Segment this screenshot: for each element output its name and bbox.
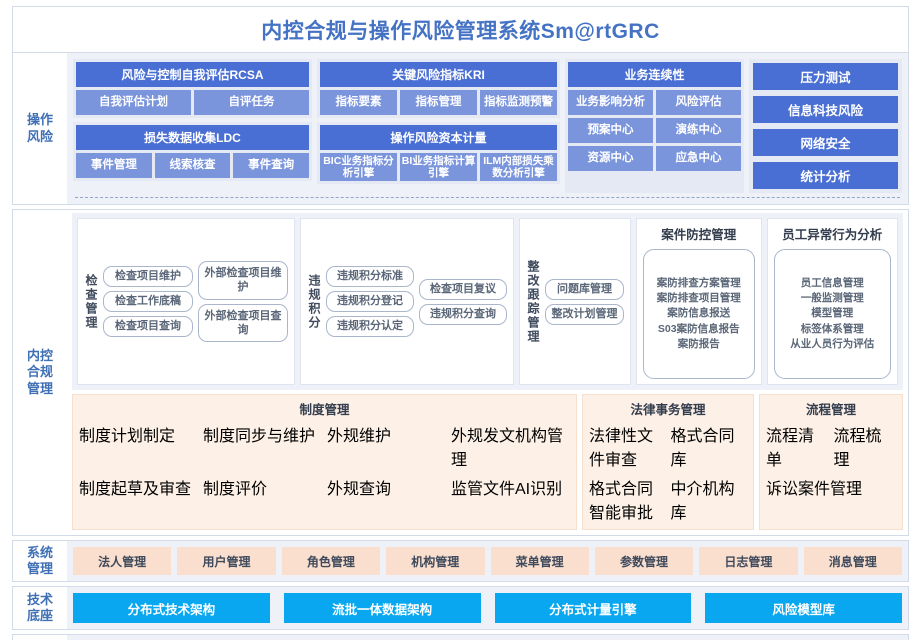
button-legal-document-review[interactable]: 法律性文件审查 bbox=[589, 422, 666, 470]
list-item[interactable]: S03案防信息报告 bbox=[648, 322, 750, 337]
button-bi-engine[interactable]: BI业务指标计算引擎 bbox=[400, 153, 477, 181]
button-external-rule-maintenance[interactable]: 外规维护 bbox=[327, 422, 446, 470]
list-item[interactable]: 案防排查项目管理 bbox=[648, 291, 750, 306]
group-kri-header[interactable]: 关键风险指标KRI bbox=[320, 62, 557, 87]
list-item[interactable]: 案防信息报送 bbox=[648, 306, 750, 321]
button-indicator-element[interactable]: 指标要素 bbox=[320, 90, 397, 115]
architecture-diagram: 内控合规与操作风险管理系统Sm@rtGRC 操作风险 风险与控制自我评估RCSA… bbox=[0, 0, 921, 640]
button-process-list[interactable]: 流程清单 bbox=[766, 422, 829, 470]
button-intermediary-org-library[interactable]: 中介机构库 bbox=[671, 475, 748, 523]
card-legal-affairs-management: 法律事务管理 法律性文件审查 格式合同库 格式合同智能审批 中介机构库 bbox=[582, 394, 754, 530]
button-regulatory-doc-ai-recognition[interactable]: 监管文件AI识别 bbox=[451, 475, 570, 499]
group-op-risk-capital-header[interactable]: 操作风险资本计量 bbox=[320, 125, 557, 150]
internal-control-body: 检查管理 检查项目维护 检查工作底稿 检查项目查询 外部检查项目维护 外部检查项… bbox=[67, 210, 908, 535]
button-distributed-tech-architecture[interactable]: 分布式技术架构 bbox=[73, 593, 270, 623]
button-org-management[interactable]: 机构管理 bbox=[386, 547, 484, 575]
list-case-prevention[interactable]: 案防排查方案管理 案防排查项目管理 案防信息报送 S03案防信息报告 案防报告 bbox=[643, 249, 755, 379]
button-self-assessment-task[interactable]: 自评任务 bbox=[194, 90, 309, 115]
band-label-operational-risk: 操作风险 bbox=[13, 53, 67, 204]
list-item[interactable]: 案防排查方案管理 bbox=[648, 276, 750, 291]
card-employee-abnormal-behavior: 员工异常行为分析 员工信息管理 一般监测管理 模型管理 标签体系管理 从业人员行… bbox=[767, 218, 899, 385]
card-case-prevention: 案件防控管理 案防排查方案管理 案防排查项目管理 案防信息报送 S03案防信息报… bbox=[636, 218, 762, 385]
group-rcsa-header[interactable]: 风险与控制自我评估RCSA bbox=[76, 62, 309, 87]
pill-violation-points-standard[interactable]: 违规积分标准 bbox=[326, 266, 414, 287]
card-label-violation-points: 违规积分 bbox=[307, 274, 321, 330]
list-item[interactable]: 员工信息管理 bbox=[779, 276, 887, 291]
button-legal-entity-management[interactable]: 法人管理 bbox=[73, 547, 171, 575]
xc-support-body: 操作系统 麒麟、统信、中科方德... 服务器 龙芯、兆芯、海思... 数据库 达… bbox=[67, 635, 908, 640]
card-label-rectification-tracking: 整改跟踪管理 bbox=[526, 260, 540, 344]
system-management-body: 法人管理 用户管理 角色管理 机构管理 菜单管理 参数管理 日志管理 消息管理 bbox=[67, 541, 908, 581]
band-internal-control: 内控合规管理 检查管理 检查项目维护 检查工作底稿 检查项目查询 外部检查项目维… bbox=[12, 209, 909, 536]
pill-external-inspection-maintenance[interactable]: 外部检查项目维护 bbox=[198, 261, 288, 300]
pill-inspection-item-review[interactable]: 检查项目复议 bbox=[419, 279, 507, 300]
button-statistical-analysis[interactable]: 统计分析 bbox=[753, 162, 898, 189]
list-item[interactable]: 模型管理 bbox=[779, 306, 887, 321]
internal-control-orange-row: 制度管理 制度计划制定 制度同步与维护 外规维护 外规发文机构管理 制度起草及审… bbox=[72, 394, 903, 530]
orisk-column-2: 关键风险指标KRI 指标要素 指标管理 指标监测预警 操作风险资本计量 BIC业… bbox=[317, 59, 560, 193]
button-policy-plan-formulation[interactable]: 制度计划制定 bbox=[79, 422, 198, 470]
button-role-management[interactable]: 角色管理 bbox=[282, 547, 380, 575]
button-drill-center[interactable]: 演练中心 bbox=[656, 118, 741, 143]
button-self-assessment-plan[interactable]: 自我评估计划 bbox=[76, 90, 191, 115]
button-message-management[interactable]: 消息管理 bbox=[804, 547, 902, 575]
pill-inspection-item-query[interactable]: 检查项目查询 bbox=[103, 316, 193, 337]
list-item[interactable]: 一般监测管理 bbox=[779, 291, 887, 306]
section-divider bbox=[75, 197, 900, 198]
card-rectification-tracking: 整改跟踪管理 问题库管理 整改计划管理 bbox=[519, 218, 631, 385]
button-risk-model-library[interactable]: 风险模型库 bbox=[705, 593, 902, 623]
button-log-management[interactable]: 日志管理 bbox=[699, 547, 797, 575]
card-title-legal-affairs-management: 法律事务管理 bbox=[589, 399, 747, 418]
button-it-risk[interactable]: 信息科技风险 bbox=[753, 96, 898, 123]
page-title: 内控合规与操作风险管理系统Sm@rtGRC bbox=[261, 15, 660, 45]
pill-inspection-item-maintenance[interactable]: 检查项目维护 bbox=[103, 266, 193, 287]
button-risk-assessment[interactable]: 风险评估 bbox=[656, 90, 741, 115]
card-inspection-management: 检查管理 检查项目维护 检查工作底稿 检查项目查询 外部检查项目维护 外部检查项… bbox=[77, 218, 295, 385]
card-title-employee-abnormal-behavior: 员工异常行为分析 bbox=[774, 224, 892, 243]
button-stream-batch-data-architecture[interactable]: 流批一体数据架构 bbox=[284, 593, 481, 623]
button-event-management[interactable]: 事件管理 bbox=[76, 153, 152, 178]
list-item[interactable]: 从业人员行为评估 bbox=[779, 337, 887, 352]
internal-control-cards: 检查管理 检查项目维护 检查工作底稿 检查项目查询 外部检查项目维护 外部检查项… bbox=[72, 213, 903, 390]
button-indicator-management[interactable]: 指标管理 bbox=[400, 90, 477, 115]
card-title-process-management: 流程管理 bbox=[766, 399, 896, 418]
button-menu-management[interactable]: 菜单管理 bbox=[491, 547, 589, 575]
pill-issue-library-management[interactable]: 问题库管理 bbox=[545, 279, 624, 300]
band-xc-support: 信创支持 操作系统 麒麟、统信、中科方德... 服务器 龙芯、兆芯、海思... … bbox=[12, 634, 909, 640]
pill-violation-points-registration[interactable]: 违规积分登记 bbox=[326, 291, 414, 312]
button-distributed-measurement-engine[interactable]: 分布式计量引擎 bbox=[495, 593, 692, 623]
button-event-query[interactable]: 事件查询 bbox=[233, 153, 309, 178]
button-parameter-management[interactable]: 参数管理 bbox=[595, 547, 693, 575]
page-title-bar: 内控合规与操作风险管理系统Sm@rtGRC bbox=[12, 6, 909, 52]
band-tech-base: 技术底座 分布式技术架构 流批一体数据架构 分布式计量引擎 风险模型库 bbox=[12, 586, 909, 630]
card-violation-points: 违规积分 违规积分标准 违规积分登记 违规积分认定 检查项目复议 违规积分查询 bbox=[300, 218, 514, 385]
button-indicator-monitoring-alert[interactable]: 指标监测预警 bbox=[480, 90, 557, 115]
button-user-management[interactable]: 用户管理 bbox=[177, 547, 275, 575]
button-network-security[interactable]: 网络安全 bbox=[753, 129, 898, 156]
group-op-risk-capital: 操作风险资本计量 BIC业务指标分析引擎 BI业务指标计算引擎 ILM内部损失乘… bbox=[317, 122, 560, 184]
group-business-continuity-header[interactable]: 业务连续性 bbox=[568, 62, 741, 87]
group-ldc-header[interactable]: 损失数据收集LDC bbox=[76, 125, 309, 150]
card-label-inspection-management: 检查管理 bbox=[84, 274, 98, 330]
button-external-rule-query[interactable]: 外规查询 bbox=[327, 475, 446, 499]
button-bic-engine[interactable]: BIC业务指标分析引擎 bbox=[320, 153, 397, 181]
button-policy-drafting-review[interactable]: 制度起草及审查 bbox=[79, 475, 198, 499]
pill-inspection-working-paper[interactable]: 检查工作底稿 bbox=[103, 291, 193, 312]
group-rcsa: 风险与控制自我评估RCSA 自我评估计划 自评任务 bbox=[73, 59, 312, 118]
operational-risk-body: 风险与控制自我评估RCSA 自我评估计划 自评任务 损失数据收集LDC 事件管理… bbox=[67, 53, 908, 204]
button-ilm-engine[interactable]: ILM内部损失乘数分析引擎 bbox=[480, 153, 557, 181]
group-business-continuity: 业务连续性 业务影响分析 风险评估 预案中心 演练中心 资源中心 应急中心 bbox=[565, 59, 744, 193]
button-resource-center[interactable]: 资源中心 bbox=[568, 146, 653, 171]
button-litigation-case-management[interactable]: 诉讼案件管理 bbox=[766, 475, 896, 499]
card-title-case-prevention: 案件防控管理 bbox=[643, 224, 755, 243]
orisk-column-1: 风险与控制自我评估RCSA 自我评估计划 自评任务 损失数据收集LDC 事件管理… bbox=[73, 59, 312, 193]
button-clue-verification[interactable]: 线索核查 bbox=[155, 153, 231, 178]
button-process-sorting[interactable]: 流程梳理 bbox=[834, 422, 897, 470]
pill-rectification-plan-management[interactable]: 整改计划管理 bbox=[545, 304, 624, 325]
list-employee-abnormal-behavior[interactable]: 员工信息管理 一般监测管理 模型管理 标签体系管理 从业人员行为评估 bbox=[774, 249, 892, 379]
button-policy-evaluation[interactable]: 制度评价 bbox=[203, 475, 322, 499]
band-system-management: 系统管理 法人管理 用户管理 角色管理 机构管理 菜单管理 参数管理 日志管理 … bbox=[12, 540, 909, 582]
list-item[interactable]: 标签体系管理 bbox=[779, 322, 887, 337]
band-label-internal-control: 内控合规管理 bbox=[13, 210, 67, 535]
pill-external-inspection-query[interactable]: 外部检查项目查询 bbox=[198, 304, 288, 343]
orisk-column-3: 业务连续性 业务影响分析 风险评估 预案中心 演练中心 资源中心 应急中心 bbox=[565, 59, 744, 193]
button-emergency-center[interactable]: 应急中心 bbox=[656, 146, 741, 171]
band-label-tech-base: 技术底座 bbox=[13, 587, 67, 629]
button-standard-contract-library[interactable]: 格式合同库 bbox=[671, 422, 748, 470]
band-label-system-management: 系统管理 bbox=[13, 541, 67, 581]
band-operational-risk: 操作风险 风险与控制自我评估RCSA 自我评估计划 自评任务 损失数据收集LDC bbox=[12, 52, 909, 205]
group-ldc: 损失数据收集LDC 事件管理 线索核查 事件查询 bbox=[73, 122, 312, 181]
button-external-issuing-org-management[interactable]: 外规发文机构管理 bbox=[451, 422, 570, 470]
list-item[interactable]: 案防报告 bbox=[648, 337, 750, 352]
tech-base-body: 分布式技术架构 流批一体数据架构 分布式计量引擎 风险模型库 bbox=[67, 587, 908, 629]
orisk-column-4: 压力测试 信息科技风险 网络安全 统计分析 bbox=[749, 59, 902, 193]
card-process-management: 流程管理 流程清单 流程梳理 诉讼案件管理 bbox=[759, 394, 903, 530]
pill-violation-points-determination[interactable]: 违规积分认定 bbox=[326, 316, 414, 337]
card-policy-management: 制度管理 制度计划制定 制度同步与维护 外规维护 外规发文机构管理 制度起草及审… bbox=[72, 394, 577, 530]
button-plan-center[interactable]: 预案中心 bbox=[568, 118, 653, 143]
group-kri: 关键风险指标KRI 指标要素 指标管理 指标监测预警 bbox=[317, 59, 560, 118]
button-business-impact-analysis[interactable]: 业务影响分析 bbox=[568, 90, 653, 115]
button-stress-testing[interactable]: 压力测试 bbox=[753, 63, 898, 90]
button-policy-sync-maintenance[interactable]: 制度同步与维护 bbox=[203, 422, 322, 470]
pill-violation-points-query[interactable]: 违规积分查询 bbox=[419, 304, 507, 325]
button-standard-contract-smart-approval[interactable]: 格式合同智能审批 bbox=[589, 475, 666, 523]
card-title-policy-management: 制度管理 bbox=[79, 399, 570, 418]
band-label-xc-support: 信创支持 bbox=[13, 635, 67, 640]
